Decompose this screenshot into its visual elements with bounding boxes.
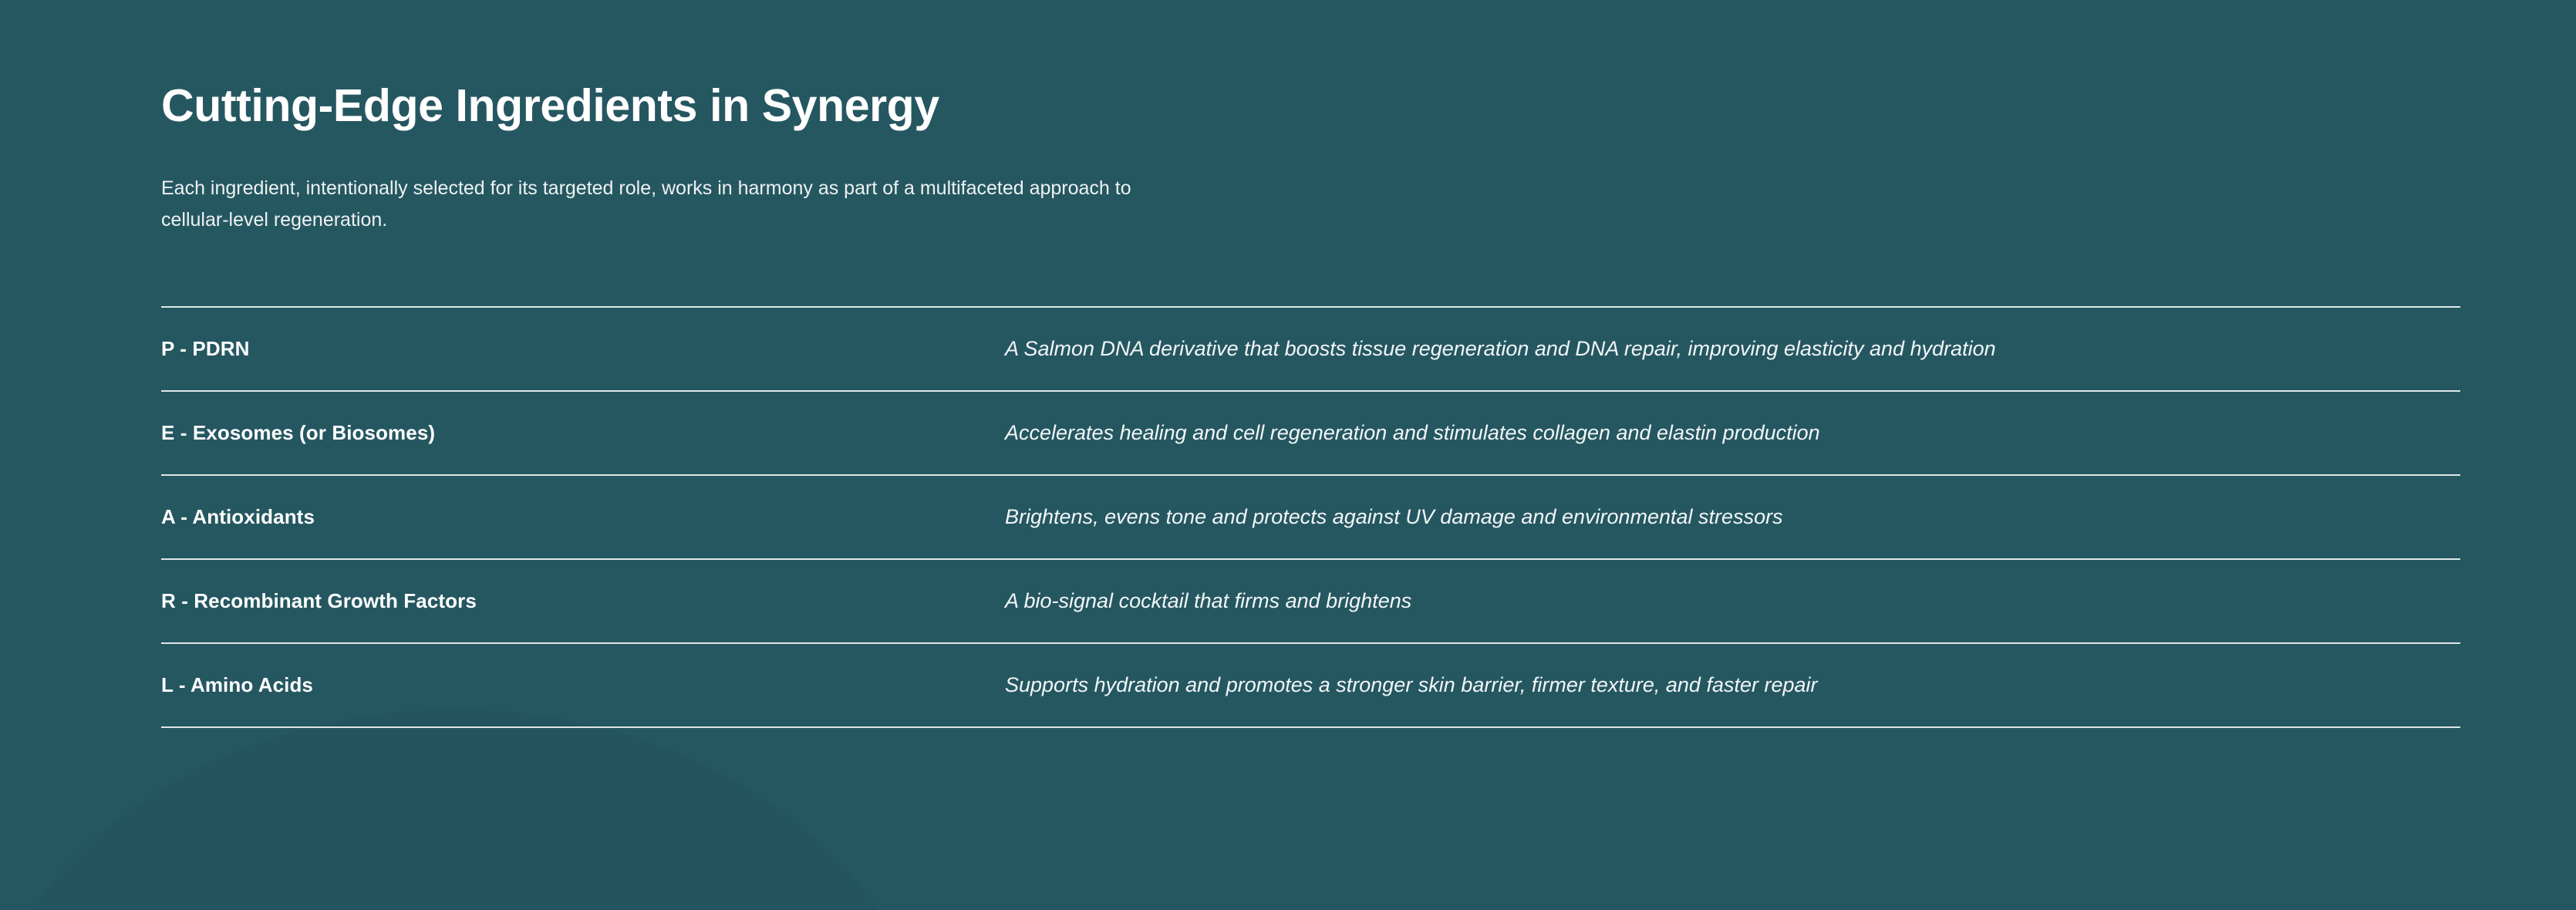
table-row: L - Amino Acids Supports hydration and p…: [161, 644, 2460, 728]
intro-paragraph: Each ingredient, intentionally selected …: [161, 173, 1195, 235]
ingredient-description: Accelerates healing and cell regeneratio…: [1005, 420, 2460, 447]
page-title: Cutting-Edge Ingredients in Synergy: [161, 80, 2460, 131]
page-root: Cutting-Edge Ingredients in Synergy Each…: [0, 0, 2576, 910]
ingredient-description: Brightens, evens tone and protects again…: [1005, 504, 2460, 531]
ingredient-term: R - Recombinant Growth Factors: [161, 589, 1005, 613]
ingredient-term: L - Amino Acids: [161, 673, 1005, 697]
table-row: P - PDRN A Salmon DNA derivative that bo…: [161, 308, 2460, 392]
ingredient-description: A bio-signal cocktail that firms and bri…: [1005, 588, 2460, 615]
ingredient-description: Supports hydration and promotes a strong…: [1005, 672, 2460, 699]
content-container: Cutting-Edge Ingredients in Synergy Each…: [161, 0, 2460, 728]
ingredient-term: E - Exosomes (or Biosomes): [161, 421, 1005, 445]
decorative-arc-shape: [0, 709, 941, 910]
table-row: E - Exosomes (or Biosomes) Accelerates h…: [161, 392, 2460, 476]
table-row: A - Antioxidants Brightens, evens tone a…: [161, 476, 2460, 560]
ingredient-term: P - PDRN: [161, 337, 1005, 361]
table-row: R - Recombinant Growth Factors A bio-sig…: [161, 560, 2460, 644]
ingredient-description: A Salmon DNA derivative that boosts tiss…: [1005, 335, 2460, 362]
ingredient-term: A - Antioxidants: [161, 505, 1005, 529]
ingredient-table: P - PDRN A Salmon DNA derivative that bo…: [161, 306, 2460, 728]
